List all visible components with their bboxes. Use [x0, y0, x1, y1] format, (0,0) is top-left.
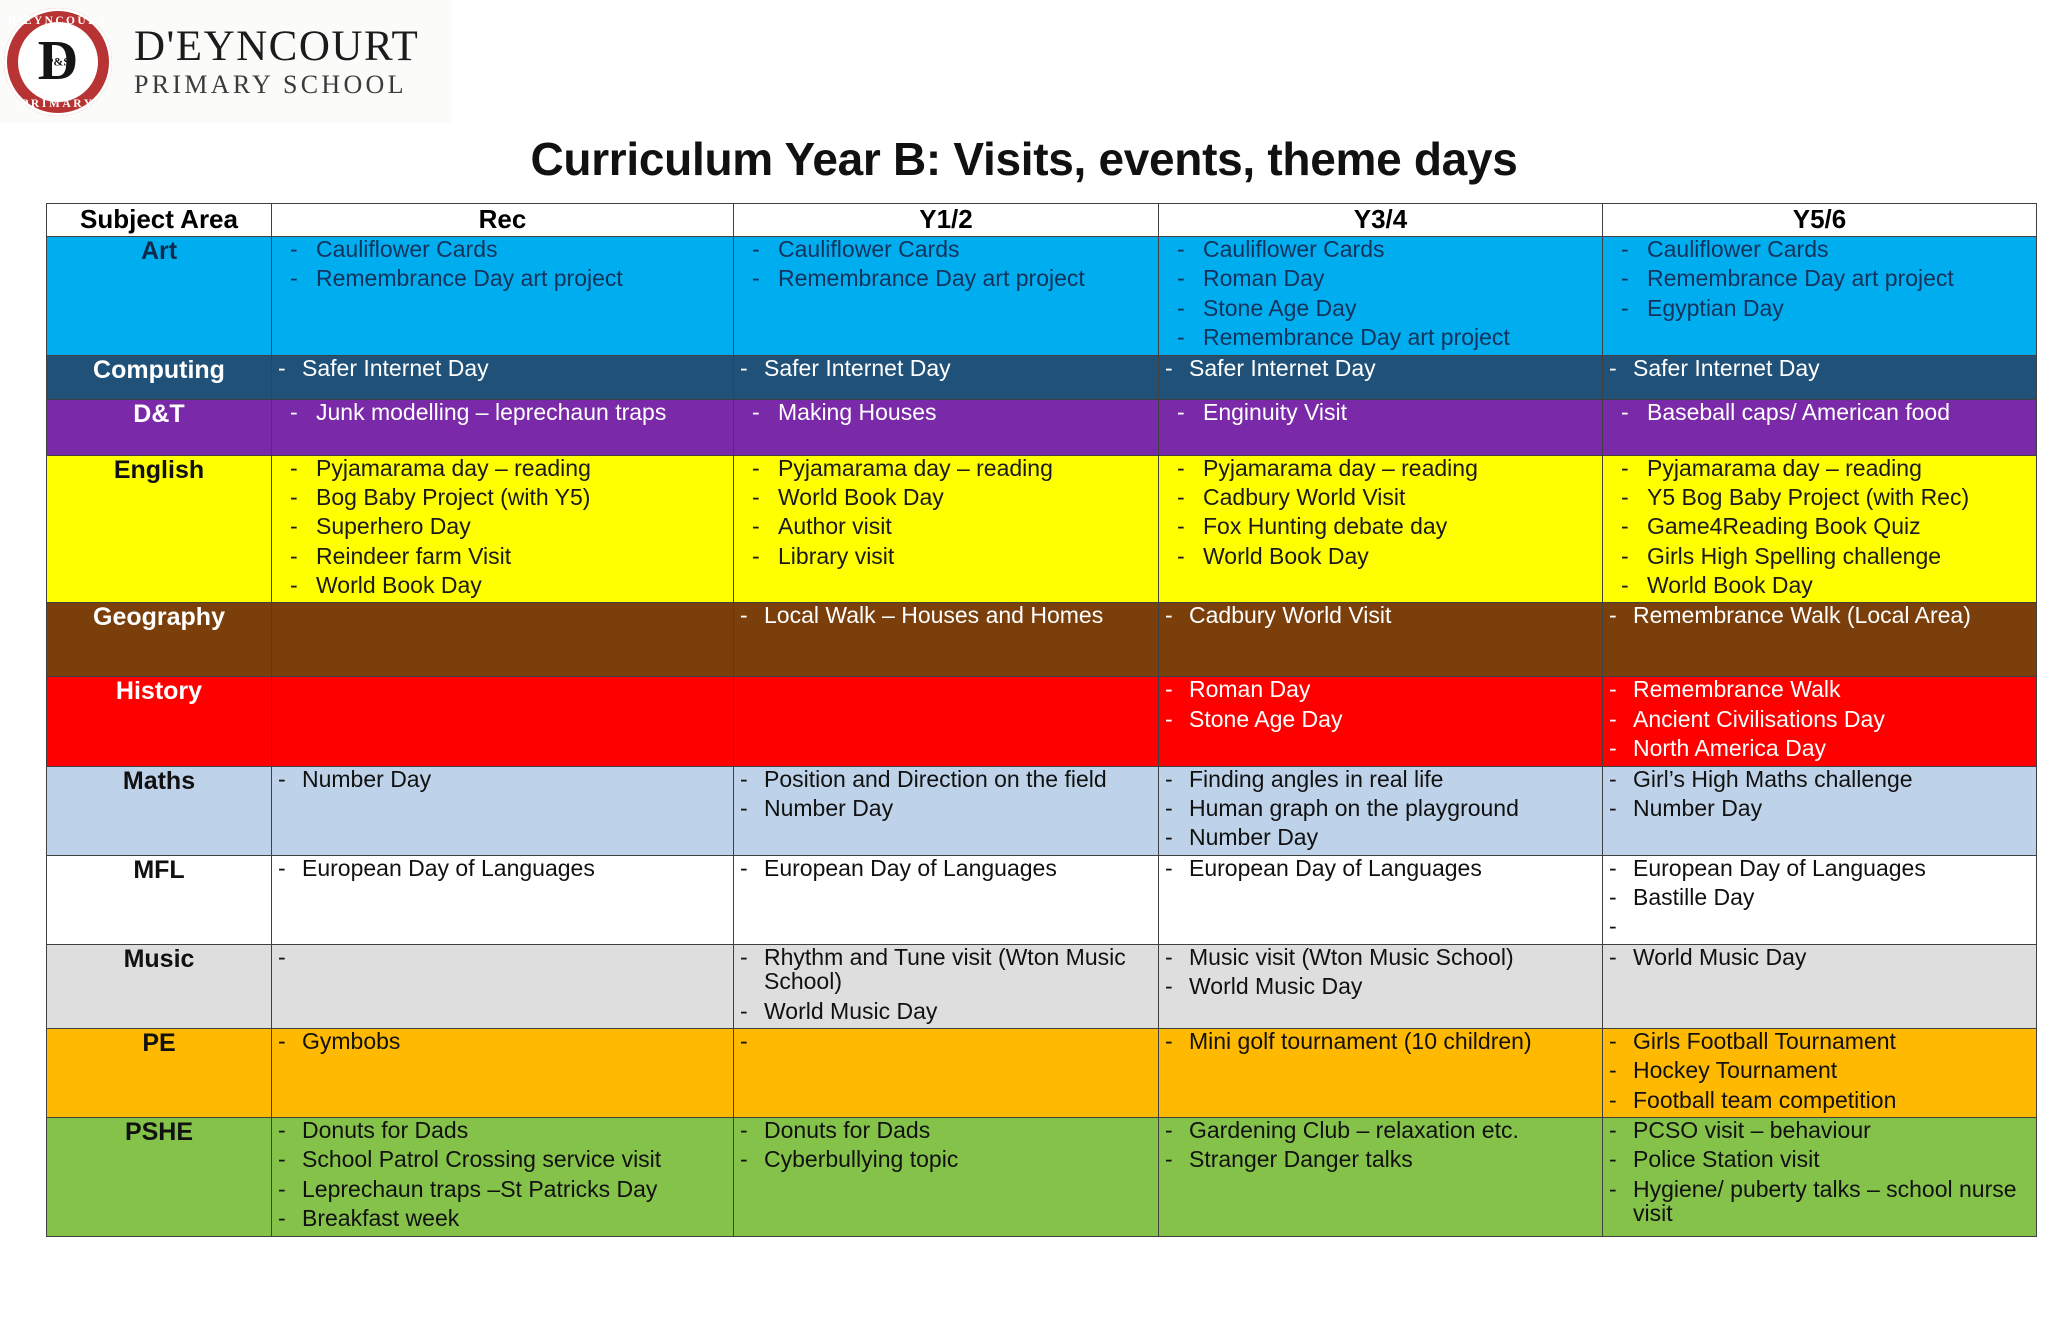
- list-item: -: [272, 945, 733, 969]
- item-text: Enginuity Visit: [1203, 400, 1602, 424]
- list-item: -Remembrance Day art project: [734, 266, 1158, 290]
- cell-y1-2: -Rhythm and Tune visit (Wton Music Schoo…: [734, 944, 1159, 1028]
- cell-y3-4: -Cauliflower Cards-Roman Day-Stone Age D…: [1159, 237, 1603, 356]
- bullet-dash-icon: -: [734, 1118, 764, 1142]
- bullet-dash-icon: -: [734, 603, 764, 627]
- cell-rec: -Gymbobs: [272, 1028, 734, 1117]
- item-list: -Remembrance Walk-Ancient Civilisations …: [1603, 677, 2036, 760]
- table-row: PE-Gymbobs--Mini golf tournament (10 chi…: [47, 1028, 2037, 1117]
- item-list: -Cauliflower Cards-Remembrance Day art p…: [1603, 237, 2036, 320]
- item-text: Cauliflower Cards: [1203, 237, 1602, 261]
- item-text: Making Houses: [778, 400, 1158, 424]
- item-text: Y5 Bog Baby Project (with Rec): [1647, 485, 2036, 509]
- table-row: Maths-Number Day-Position and Direction …: [47, 766, 2037, 855]
- item-text: Remembrance Day art project: [1647, 266, 2036, 290]
- item-list: -Pyjamarama day – reading-Bog Baby Proje…: [272, 456, 733, 598]
- bullet-dash-icon: -: [1159, 945, 1189, 969]
- item-list: -Remembrance Walk (Local Area): [1603, 603, 2036, 627]
- subject-cell-art: Art: [47, 237, 272, 356]
- cell-y5-6: -Remembrance Walk-Ancient Civilisations …: [1603, 677, 2037, 766]
- table-row: Geography-Local Walk – Houses and Homes-…: [47, 603, 2037, 677]
- subject-cell-english: English: [47, 455, 272, 603]
- item-text: Stone Age Day: [1203, 296, 1602, 320]
- school-logo: D D'EYNCOURT PRIMARY P&S D'EYNCOURT PRIM…: [0, 0, 452, 123]
- item-text: World Book Day: [316, 573, 733, 597]
- list-item: -Police Station visit: [1603, 1147, 2036, 1171]
- table-body: Art-Cauliflower Cards-Remembrance Day ar…: [47, 237, 2037, 1237]
- item-list: -PCSO visit – behaviour-Police Station v…: [1603, 1118, 2036, 1226]
- bullet-dash-icon: -: [1159, 677, 1189, 701]
- bullet-dash-icon: -: [272, 767, 302, 791]
- item-text: Girls High Spelling challenge: [1647, 544, 2036, 568]
- cell-y3-4: -Cadbury World Visit: [1159, 603, 1603, 677]
- table-row: Art-Cauliflower Cards-Remembrance Day ar…: [47, 237, 2037, 356]
- bullet-dash-icon: -: [1603, 1177, 1633, 1226]
- list-item: -Hygiene/ puberty talks – school nurse v…: [1603, 1177, 2036, 1226]
- cell-y3-4: -Finding angles in real life-Human graph…: [1159, 766, 1603, 855]
- item-list: -Local Walk – Houses and Homes: [734, 603, 1158, 627]
- list-item: -Breakfast week: [272, 1206, 733, 1230]
- bullet-dash-icon: -: [1603, 1029, 1633, 1053]
- item-text: Police Station visit: [1633, 1147, 2036, 1171]
- cell-rec: -Safer Internet Day: [272, 355, 734, 399]
- bullet-dash-icon: -: [1603, 400, 1647, 424]
- item-list: -Making Houses: [734, 400, 1158, 424]
- item-text: Roman Day: [1189, 677, 1602, 701]
- item-list: -Finding angles in real life-Human graph…: [1159, 767, 1602, 850]
- list-item: -World Book Day: [1603, 573, 2036, 597]
- list-item: -Girls High Spelling challenge: [1603, 544, 2036, 568]
- list-item: -Remembrance Walk (Local Area): [1603, 603, 2036, 627]
- cell-y5-6: -World Music Day: [1603, 944, 2037, 1028]
- item-text: Remembrance Day art project: [1203, 325, 1602, 349]
- item-text: School Patrol Crossing service visit: [302, 1147, 733, 1171]
- item-text: Number Day: [1189, 825, 1602, 849]
- list-item: -Football team competition: [1603, 1088, 2036, 1112]
- wordmark-line-1: D'EYNCOURT: [134, 25, 419, 68]
- item-list: -Roman Day-Stone Age Day: [1159, 677, 1602, 731]
- bullet-dash-icon: -: [1603, 356, 1633, 380]
- bullet-dash-icon: -: [272, 1147, 302, 1171]
- column-header-y3-4: Y3/4: [1159, 204, 1603, 237]
- list-item: -World Book Day: [1159, 544, 1602, 568]
- bullet-dash-icon: -: [1159, 400, 1203, 424]
- bullet-dash-icon: -: [1603, 1147, 1633, 1171]
- subject-cell-pshe: PSHE: [47, 1118, 272, 1237]
- cell-y1-2: -: [734, 1028, 1159, 1117]
- cell-y5-6: -Cauliflower Cards-Remembrance Day art p…: [1603, 237, 2037, 356]
- column-header-y5-6: Y5/6: [1603, 204, 2037, 237]
- bullet-dash-icon: -: [272, 1118, 302, 1142]
- table-header-row: Subject Area Rec Y1/2 Y3/4 Y5/6: [47, 204, 2037, 237]
- bullet-dash-icon: -: [1159, 356, 1189, 380]
- bullet-dash-icon: -: [734, 400, 778, 424]
- bullet-dash-icon: -: [734, 796, 764, 820]
- list-item: -Safer Internet Day: [734, 356, 1158, 380]
- cell-y5-6: -Girl’s High Maths challenge-Number Day: [1603, 766, 2037, 855]
- item-text: European Day of Languages: [1633, 856, 2036, 880]
- crest-top-text: D'EYNCOURT: [4, 15, 112, 27]
- item-list: -Pyjamarama day – reading-Y5 Bog Baby Pr…: [1603, 456, 2036, 598]
- bullet-dash-icon: -: [1603, 1088, 1633, 1112]
- item-list: -Junk modelling – leprechaun traps: [272, 400, 733, 424]
- list-item: -European Day of Languages: [734, 856, 1158, 880]
- item-text: World Book Day: [778, 485, 1158, 509]
- list-item: -Cauliflower Cards: [1603, 237, 2036, 261]
- list-item: -Gardening Club – relaxation etc.: [1159, 1118, 1602, 1142]
- item-list: -Position and Direction on the field-Num…: [734, 767, 1158, 821]
- subject-cell-pe: PE: [47, 1028, 272, 1117]
- list-item: -Cyberbullying topic: [734, 1147, 1158, 1171]
- list-item: -Remembrance Day art project: [1159, 325, 1602, 349]
- bullet-dash-icon: -: [1603, 914, 1633, 938]
- bullet-dash-icon: -: [1603, 767, 1633, 791]
- bullet-dash-icon: -: [272, 456, 316, 480]
- bullet-dash-icon: -: [272, 514, 316, 538]
- item-text: Pyjamarama day – reading: [316, 456, 733, 480]
- bullet-dash-icon: -: [1603, 603, 1633, 627]
- list-item: -Junk modelling – leprechaun traps: [272, 400, 733, 424]
- cell-y1-2: [734, 677, 1159, 766]
- bullet-dash-icon: -: [1159, 767, 1189, 791]
- item-list: -Girl’s High Maths challenge-Number Day: [1603, 767, 2036, 821]
- item-text: Cauliflower Cards: [316, 237, 733, 261]
- cell-y3-4: -Enginuity Visit: [1159, 399, 1603, 455]
- cell-y3-4: -Roman Day-Stone Age Day: [1159, 677, 1603, 766]
- cell-rec: -Cauliflower Cards-Remembrance Day art p…: [272, 237, 734, 356]
- item-text: Remembrance Day art project: [316, 266, 733, 290]
- bullet-dash-icon: -: [272, 1177, 302, 1201]
- cell-y3-4: -Music visit (Wton Music School)-World M…: [1159, 944, 1603, 1028]
- item-list: -Girls Football Tournament-Hockey Tourna…: [1603, 1029, 2036, 1112]
- crest-center-text: P&S: [4, 54, 112, 69]
- bullet-dash-icon: -: [1603, 514, 1647, 538]
- cell-y1-2: -Pyjamarama day – reading-World Book Day…: [734, 455, 1159, 603]
- item-text: Number Day: [764, 796, 1158, 820]
- list-item: -Girls Football Tournament: [1603, 1029, 2036, 1053]
- item-text: Cadbury World Visit: [1203, 485, 1602, 509]
- table-row: D&T-Junk modelling – leprechaun traps-Ma…: [47, 399, 2037, 455]
- item-text: Pyjamarama day – reading: [778, 456, 1158, 480]
- item-text: World Book Day: [1647, 573, 2036, 597]
- list-item: -Mini golf tournament (10 children): [1159, 1029, 1602, 1053]
- list-item: -Girl’s High Maths challenge: [1603, 767, 2036, 791]
- item-list: -Gardening Club – relaxation etc.-Strang…: [1159, 1118, 1602, 1172]
- item-text: World Music Day: [764, 999, 1158, 1023]
- item-text: Superhero Day: [316, 514, 733, 538]
- list-item: -Pyjamarama day – reading: [1603, 456, 2036, 480]
- subject-cell-history: History: [47, 677, 272, 766]
- bullet-dash-icon: -: [734, 856, 764, 880]
- list-item: -Number Day: [1603, 796, 2036, 820]
- cell-rec: -: [272, 944, 734, 1028]
- bullet-dash-icon: -: [272, 573, 316, 597]
- item-text: World Music Day: [1189, 974, 1602, 998]
- list-item: -Bog Baby Project (with Y5): [272, 485, 733, 509]
- bullet-dash-icon: -: [1159, 544, 1203, 568]
- item-text: Pyjamarama day – reading: [1647, 456, 2036, 480]
- item-text: Rhythm and Tune visit (Wton Music School…: [764, 945, 1158, 994]
- table-row: PSHE-Donuts for Dads-School Patrol Cross…: [47, 1118, 2037, 1237]
- list-item: -Author visit: [734, 514, 1158, 538]
- item-text: Human graph on the playground: [1189, 796, 1602, 820]
- bullet-dash-icon: -: [1603, 485, 1647, 509]
- subject-cell-mfl: MFL: [47, 855, 272, 944]
- item-text: Author visit: [778, 514, 1158, 538]
- list-item: -PCSO visit – behaviour: [1603, 1118, 2036, 1142]
- list-item: -Pyjamarama day – reading: [734, 456, 1158, 480]
- item-list: -Cadbury World Visit: [1159, 603, 1602, 627]
- item-list: -European Day of Languages: [734, 856, 1158, 880]
- bullet-dash-icon: -: [1603, 885, 1633, 909]
- bullet-dash-icon: -: [1603, 573, 1647, 597]
- cell-y1-2: -Local Walk – Houses and Homes: [734, 603, 1159, 677]
- bullet-dash-icon: -: [272, 1029, 302, 1053]
- item-text: Cadbury World Visit: [1189, 603, 1602, 627]
- item-text: Leprechaun traps –St Patricks Day: [302, 1177, 733, 1201]
- bullet-dash-icon: -: [1603, 1058, 1633, 1082]
- item-text: Roman Day: [1203, 266, 1602, 290]
- wordmark-line-2: PRIMARY SCHOOL: [134, 72, 419, 98]
- list-item: -Roman Day: [1159, 677, 1602, 701]
- item-text: Safer Internet Day: [1633, 356, 2036, 380]
- item-list: -European Day of Languages: [272, 856, 733, 880]
- crest-bottom-text: PRIMARY: [4, 98, 112, 110]
- item-text: Baseball caps/ American food: [1647, 400, 2036, 424]
- item-list: -Pyjamarama day – reading-World Book Day…: [734, 456, 1158, 569]
- item-text: [302, 945, 733, 969]
- list-item: -Finding angles in real life: [1159, 767, 1602, 791]
- bullet-dash-icon: -: [1603, 456, 1647, 480]
- list-item: -Leprechaun traps –St Patricks Day: [272, 1177, 733, 1201]
- list-item: -Safer Internet Day: [1603, 356, 2036, 380]
- bullet-dash-icon: -: [734, 1147, 764, 1171]
- school-wordmark: D'EYNCOURT PRIMARY SCHOOL: [134, 25, 419, 98]
- item-list: -Number Day: [272, 767, 733, 791]
- item-text: Donuts for Dads: [302, 1118, 733, 1142]
- bullet-dash-icon: -: [734, 767, 764, 791]
- subject-cell-geography: Geography: [47, 603, 272, 677]
- list-item: -Donuts for Dads: [272, 1118, 733, 1142]
- table-row: Music--Rhythm and Tune visit (Wton Music…: [47, 944, 2037, 1028]
- list-item: -Cadbury World Visit: [1159, 603, 1602, 627]
- item-text: Gardening Club – relaxation etc.: [1189, 1118, 1602, 1142]
- list-item: -Cauliflower Cards: [272, 237, 733, 261]
- bullet-dash-icon: -: [272, 1206, 302, 1230]
- item-list: -Cauliflower Cards-Remembrance Day art p…: [272, 237, 733, 291]
- curriculum-table: Subject Area Rec Y1/2 Y3/4 Y5/6 Art-Caul…: [46, 203, 2037, 1237]
- cell-y1-2: -Cauliflower Cards-Remembrance Day art p…: [734, 237, 1159, 356]
- item-list: -Baseball caps/ American food: [1603, 400, 2036, 424]
- bullet-dash-icon: -: [1159, 825, 1189, 849]
- bullet-dash-icon: -: [1603, 945, 1633, 969]
- bullet-dash-icon: -: [272, 945, 302, 969]
- bullet-dash-icon: -: [1603, 1118, 1633, 1142]
- bullet-dash-icon: -: [272, 485, 316, 509]
- bullet-dash-icon: -: [1159, 974, 1189, 998]
- cell-y3-4: -Mini golf tournament (10 children): [1159, 1028, 1603, 1117]
- bullet-dash-icon: -: [734, 1029, 764, 1053]
- list-item: -Stone Age Day: [1159, 296, 1602, 320]
- item-text: European Day of Languages: [1189, 856, 1602, 880]
- list-item: -Making Houses: [734, 400, 1158, 424]
- item-text: European Day of Languages: [302, 856, 733, 880]
- cell-y1-2: -European Day of Languages: [734, 855, 1159, 944]
- cell-y3-4: -Gardening Club – relaxation etc.-Strang…: [1159, 1118, 1603, 1237]
- list-item: -Enginuity Visit: [1159, 400, 1602, 424]
- list-item: -Position and Direction on the field: [734, 767, 1158, 791]
- item-text: Egyptian Day: [1647, 296, 2036, 320]
- page-title: Curriculum Year B: Visits, events, theme…: [0, 132, 2048, 186]
- bullet-dash-icon: -: [734, 485, 778, 509]
- list-item: -School Patrol Crossing service visit: [272, 1147, 733, 1171]
- list-item: -Cauliflower Cards: [734, 237, 1158, 261]
- list-item: -World Music Day: [734, 999, 1158, 1023]
- item-text: Hockey Tournament: [1633, 1058, 2036, 1082]
- bullet-dash-icon: -: [1159, 237, 1203, 261]
- list-item: -Number Day: [272, 767, 733, 791]
- item-text: Girl’s High Maths challenge: [1633, 767, 2036, 791]
- list-item: -Donuts for Dads: [734, 1118, 1158, 1142]
- item-text: Cauliflower Cards: [778, 237, 1158, 261]
- list-item: -Cadbury World Visit: [1159, 485, 1602, 509]
- list-item: -: [734, 1029, 1158, 1053]
- item-text: Cauliflower Cards: [1647, 237, 2036, 261]
- bullet-dash-icon: -: [734, 945, 764, 994]
- bullet-dash-icon: -: [1159, 1029, 1189, 1053]
- list-item: -European Day of Languages: [1603, 856, 2036, 880]
- list-item: -European Day of Languages: [1159, 856, 1602, 880]
- cell-rec: -Donuts for Dads-School Patrol Crossing …: [272, 1118, 734, 1237]
- list-item: -World Book Day: [734, 485, 1158, 509]
- list-item: -World Book Day: [272, 573, 733, 597]
- list-item: -World Music Day: [1159, 974, 1602, 998]
- list-item: -World Music Day: [1603, 945, 2036, 969]
- item-text: Donuts for Dads: [764, 1118, 1158, 1142]
- cell-y3-4: -European Day of Languages: [1159, 855, 1603, 944]
- cell-rec: [272, 677, 734, 766]
- item-list: -European Day of Languages: [1159, 856, 1602, 880]
- bullet-dash-icon: -: [734, 266, 778, 290]
- item-list: -Gymbobs: [272, 1029, 733, 1053]
- table-row: Computing-Safer Internet Day-Safer Inter…: [47, 355, 2037, 399]
- item-list: -Safer Internet Day: [1603, 356, 2036, 380]
- item-text: European Day of Languages: [764, 856, 1158, 880]
- item-text: Cyberbullying topic: [764, 1147, 1158, 1171]
- bullet-dash-icon: -: [1603, 266, 1647, 290]
- item-text: Music visit (Wton Music School): [1189, 945, 1602, 969]
- list-item: -Baseball caps/ American food: [1603, 400, 2036, 424]
- cell-y1-2: -Safer Internet Day: [734, 355, 1159, 399]
- item-text: PCSO visit – behaviour: [1633, 1118, 2036, 1142]
- cell-rec: -Pyjamarama day – reading-Bog Baby Proje…: [272, 455, 734, 603]
- bullet-dash-icon: -: [272, 856, 302, 880]
- item-list: -Donuts for Dads-Cyberbullying topic: [734, 1118, 1158, 1172]
- list-item: -: [1603, 914, 2036, 938]
- list-item: -Pyjamarama day – reading: [1159, 456, 1602, 480]
- bullet-dash-icon: -: [1159, 325, 1203, 349]
- list-item: -Superhero Day: [272, 514, 733, 538]
- bullet-dash-icon: -: [272, 356, 302, 380]
- item-text: Safer Internet Day: [1189, 356, 1602, 380]
- bullet-dash-icon: -: [1159, 796, 1189, 820]
- item-text: Bog Baby Project (with Y5): [316, 485, 733, 509]
- item-text: [764, 1029, 1158, 1053]
- item-text: Stranger Danger talks: [1189, 1147, 1602, 1171]
- bullet-dash-icon: -: [1603, 736, 1633, 760]
- bullet-dash-icon: -: [1603, 796, 1633, 820]
- item-list: -Enginuity Visit: [1159, 400, 1602, 424]
- list-item: -Music visit (Wton Music School): [1159, 945, 1602, 969]
- list-item: -Number Day: [1159, 825, 1602, 849]
- cell-y5-6: -Girls Football Tournament-Hockey Tourna…: [1603, 1028, 2037, 1117]
- item-text: Remembrance Day art project: [778, 266, 1158, 290]
- item-list: -Safer Internet Day: [1159, 356, 1602, 380]
- item-list: -Rhythm and Tune visit (Wton Music Schoo…: [734, 945, 1158, 1023]
- subject-cell-music: Music: [47, 944, 272, 1028]
- item-text: North America Day: [1633, 736, 2036, 760]
- bullet-dash-icon: -: [272, 544, 316, 568]
- item-text: Gymbobs: [302, 1029, 733, 1053]
- bullet-dash-icon: -: [1159, 1147, 1189, 1171]
- item-text: Girls Football Tournament: [1633, 1029, 2036, 1053]
- table-row: History-Roman Day-Stone Age Day-Remembra…: [47, 677, 2037, 766]
- list-item: -Cauliflower Cards: [1159, 237, 1602, 261]
- list-item: -Safer Internet Day: [1159, 356, 1602, 380]
- subject-cell-maths: Maths: [47, 766, 272, 855]
- list-item: -Roman Day: [1159, 266, 1602, 290]
- bullet-dash-icon: -: [1159, 296, 1203, 320]
- bullet-dash-icon: -: [734, 514, 778, 538]
- item-list: -Safer Internet Day: [734, 356, 1158, 380]
- bullet-dash-icon: -: [1159, 603, 1189, 627]
- item-text: Remembrance Walk: [1633, 677, 2036, 701]
- cell-y5-6: -PCSO visit – behaviour-Police Station v…: [1603, 1118, 2037, 1237]
- item-text: Local Walk – Houses and Homes: [764, 603, 1158, 627]
- item-list: -: [734, 1029, 1158, 1053]
- cell-y5-6: -Safer Internet Day: [1603, 355, 2037, 399]
- bullet-dash-icon: -: [1159, 485, 1203, 509]
- bullet-dash-icon: -: [272, 400, 316, 424]
- item-text: World Book Day: [1203, 544, 1602, 568]
- item-list: -Pyjamarama day – reading-Cadbury World …: [1159, 456, 1602, 569]
- item-list: -World Music Day: [1603, 945, 2036, 969]
- list-item: -Gymbobs: [272, 1029, 733, 1053]
- item-text: Bastille Day: [1633, 885, 2036, 909]
- list-item: -Number Day: [734, 796, 1158, 820]
- cell-rec: -European Day of Languages: [272, 855, 734, 944]
- item-text: Stone Age Day: [1189, 707, 1602, 731]
- subject-cell-computing: Computing: [47, 355, 272, 399]
- item-text: Ancient Civilisations Day: [1633, 707, 2036, 731]
- bullet-dash-icon: -: [1159, 1118, 1189, 1142]
- bullet-dash-icon: -: [1603, 544, 1647, 568]
- list-item: -Safer Internet Day: [272, 356, 733, 380]
- bullet-dash-icon: -: [734, 999, 764, 1023]
- list-item: -Egyptian Day: [1603, 296, 2036, 320]
- item-list: -Safer Internet Day: [272, 356, 733, 380]
- item-text: Number Day: [302, 767, 733, 791]
- list-item: -European Day of Languages: [272, 856, 733, 880]
- column-header-subject-area: Subject Area: [47, 204, 272, 237]
- cell-y3-4: -Pyjamarama day – reading-Cadbury World …: [1159, 455, 1603, 603]
- item-list: -Donuts for Dads-School Patrol Crossing …: [272, 1118, 733, 1231]
- column-header-y1-2: Y1/2: [734, 204, 1159, 237]
- item-list: -: [272, 945, 733, 969]
- list-item: -Stone Age Day: [1159, 707, 1602, 731]
- bullet-dash-icon: -: [1159, 266, 1203, 290]
- item-text: Hygiene/ puberty talks – school nurse vi…: [1633, 1177, 2036, 1226]
